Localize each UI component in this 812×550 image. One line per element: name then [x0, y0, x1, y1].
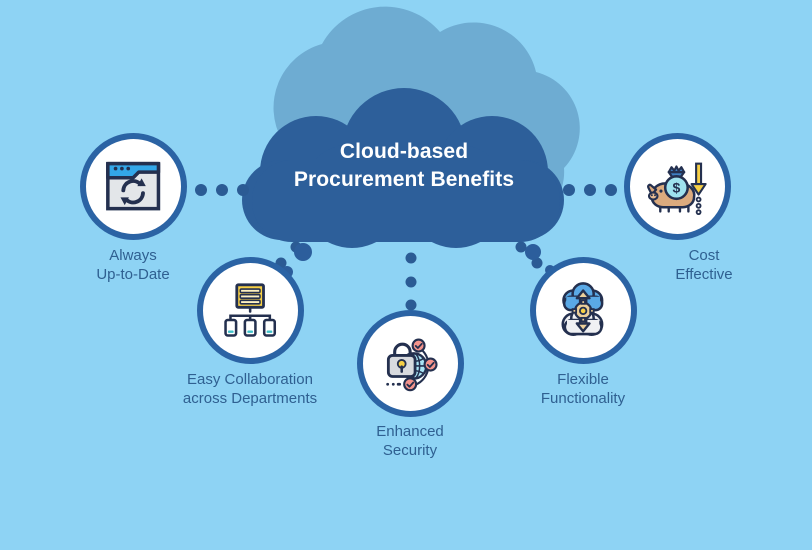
- infographic-canvas: Cloud-based Procurement Benefits Always …: [0, 0, 812, 550]
- benefit-label-line-1: Flexible: [464, 370, 702, 389]
- benefit-label-line-1: Enhanced: [291, 422, 529, 441]
- cloud-sync-gear-icon: [548, 275, 618, 345]
- server-network-icon: [215, 275, 285, 345]
- browser-refresh-icon: [98, 151, 168, 221]
- benefit-label-flexible-functionality: Flexible Functionality: [464, 370, 702, 408]
- benefit-label-enhanced-security: Enhanced Security: [291, 422, 529, 460]
- benefit-circle-enhanced-security[interactable]: [357, 310, 464, 417]
- padlock-globe-check-icon: [375, 328, 445, 398]
- benefit-circle-easy-collaboration[interactable]: [197, 257, 304, 364]
- benefit-circle-cost-effective[interactable]: $: [624, 133, 731, 240]
- benefit-label-cost-effective: Cost Effective: [585, 246, 812, 284]
- benefit-label-line-2: Security: [291, 441, 529, 460]
- benefit-label-line-2: across Departments: [131, 389, 369, 408]
- benefit-label-easy-collaboration: Easy Collaboration across Departments: [131, 370, 369, 408]
- benefit-label-line-2: Effective: [585, 265, 812, 284]
- benefit-label-line-1: Always: [14, 246, 252, 265]
- benefit-circle-always-up-to-date[interactable]: [80, 133, 187, 240]
- benefit-label-line-1: Cost: [585, 246, 812, 265]
- benefit-label-line-2: Functionality: [464, 389, 702, 408]
- benefit-label-line-1: Easy Collaboration: [131, 370, 369, 389]
- svg-text:$: $: [673, 180, 681, 196]
- piggy-bank-savings-icon: $: [642, 151, 712, 221]
- decorative-dots: [281, 243, 555, 278]
